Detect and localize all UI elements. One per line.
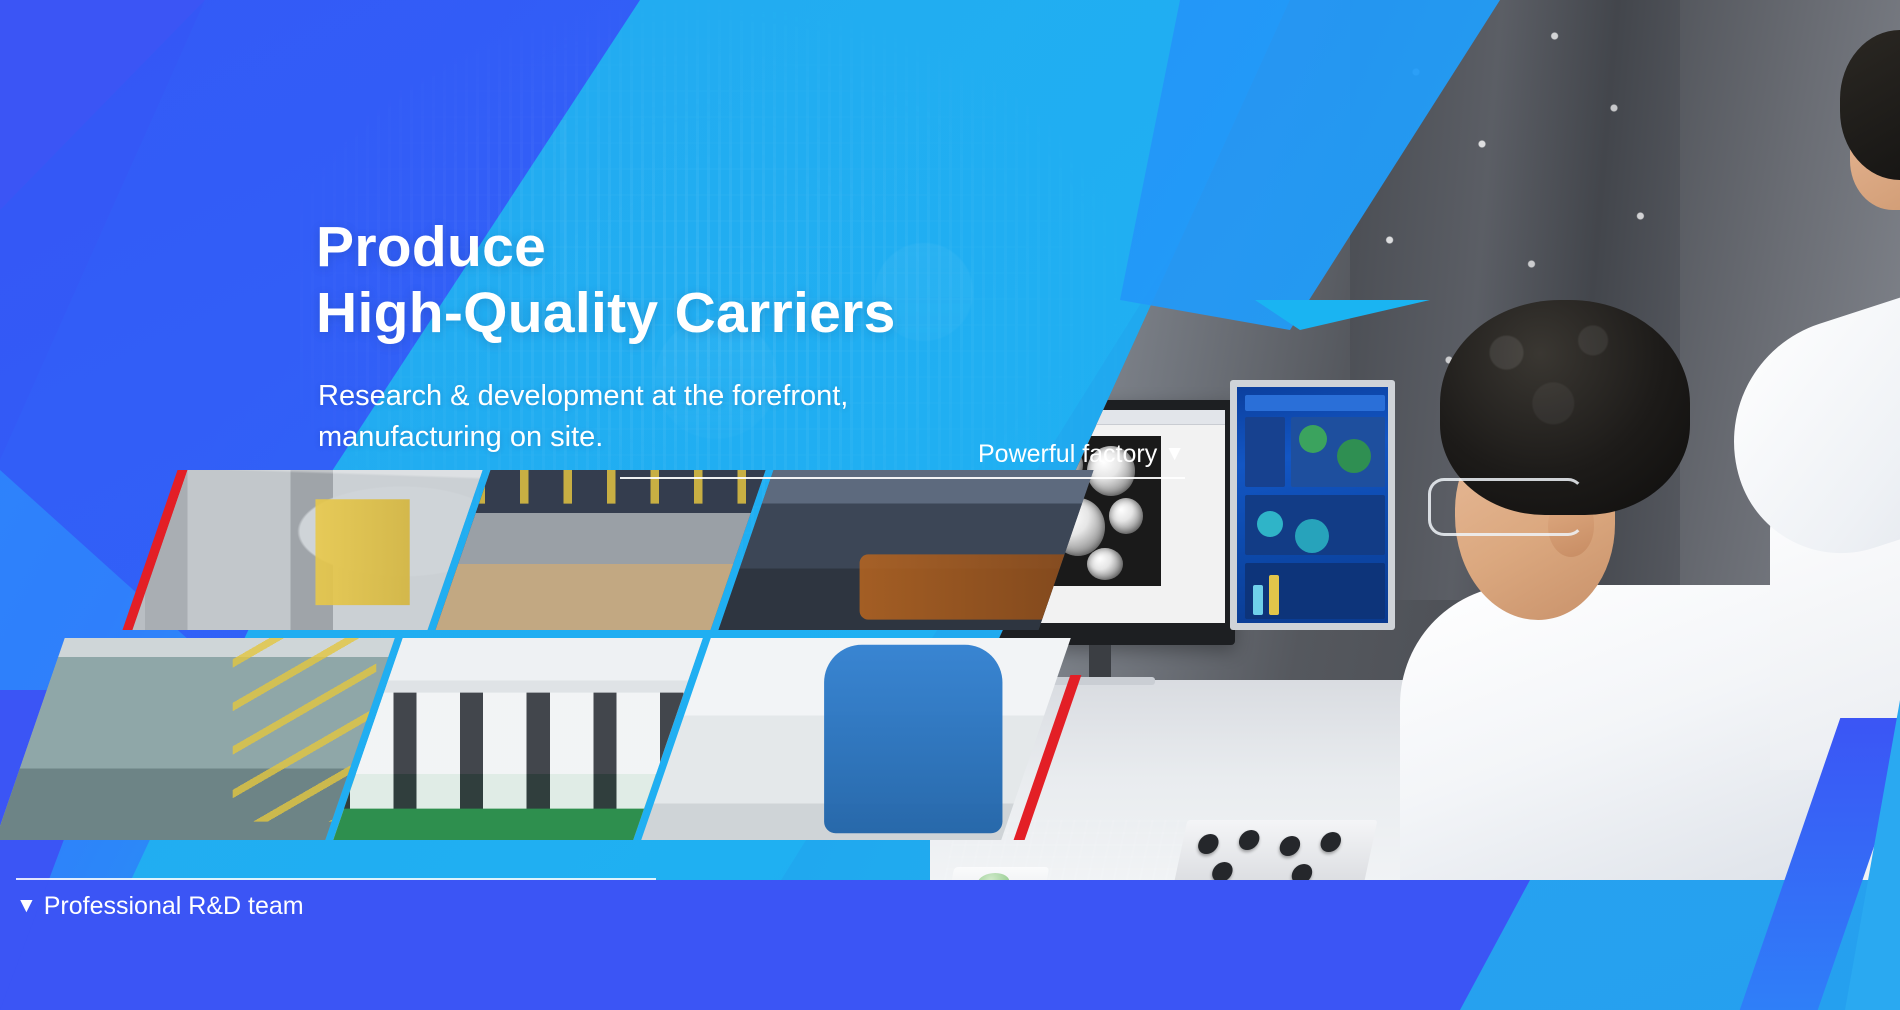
factory-photo-collage xyxy=(0,470,1180,890)
collage-tile-4 xyxy=(0,638,395,840)
professional-rd-text: Professional R&D team xyxy=(44,892,304,920)
professional-rd-label[interactable]: ▼ Professional R&D team xyxy=(16,878,656,921)
collage-tile-3 xyxy=(718,470,1093,630)
collage-tile-5 xyxy=(333,638,703,840)
subtitle-line-1: Research & development at the forefront, xyxy=(318,380,848,412)
rd-label-rule xyxy=(16,878,656,880)
headline-line-2: High-Quality Carriers xyxy=(316,281,896,345)
page-title: Produce High-Quality Carriers xyxy=(316,214,896,346)
subtitle-line-2: manufacturing on site. xyxy=(318,421,603,453)
headline-line-1: Produce xyxy=(316,215,546,279)
caret-down-icon: ▼ xyxy=(1164,443,1185,464)
collage-tile-6 xyxy=(641,638,1071,840)
hero-banner: Produce High-Quality Carriers Research &… xyxy=(0,0,1900,1010)
collage-tile-1 xyxy=(132,470,482,630)
collage-tile-2 xyxy=(435,470,765,630)
powerful-factory-text: Powerful factory xyxy=(978,440,1157,468)
factory-label-rule xyxy=(620,477,1185,479)
powerful-factory-label[interactable]: Powerful factory ▼ xyxy=(620,440,1185,479)
caret-down-icon: ▼ xyxy=(16,895,37,916)
